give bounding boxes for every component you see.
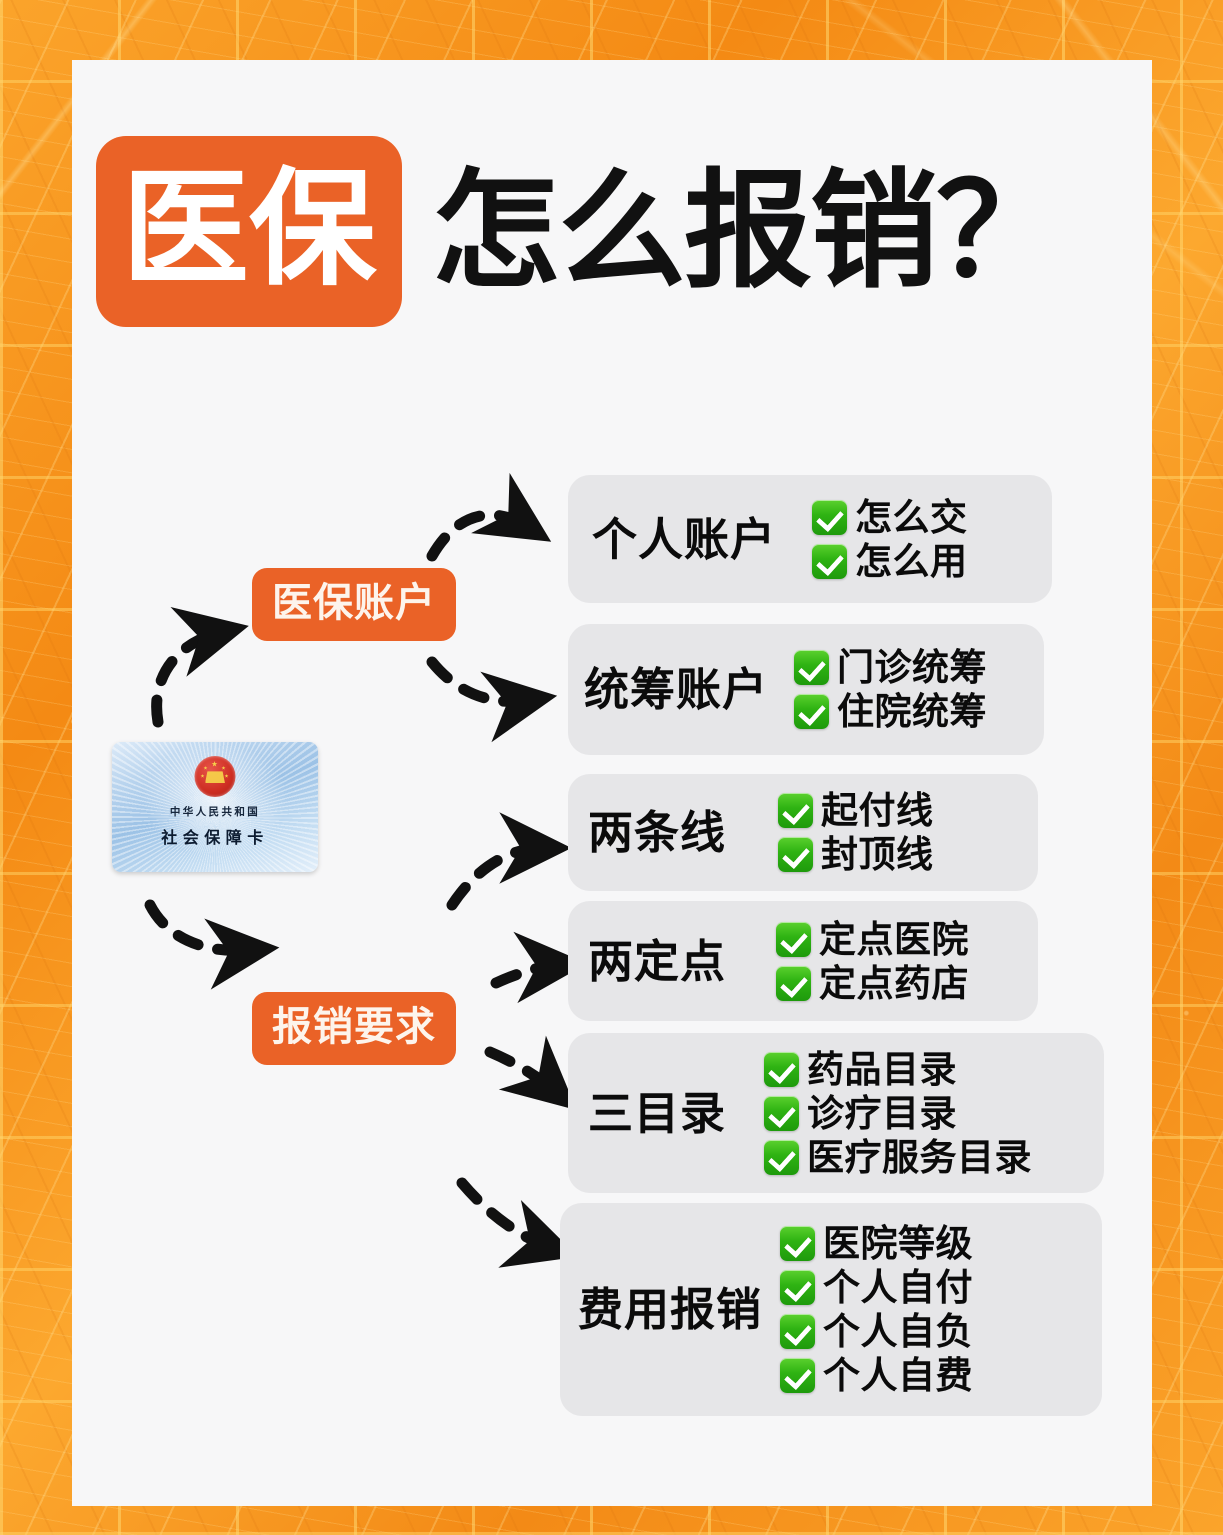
list-item[interactable]: 门诊统筹	[794, 649, 987, 686]
branch-label-account[interactable]: 医保账户	[252, 568, 456, 641]
content-box-expense-reimbursement[interactable]: 费用报销 医院等级 个人自付 个人自负 个人自费	[560, 1203, 1102, 1416]
check-icon	[764, 1096, 799, 1131]
card-name-line: 社会保障卡	[112, 824, 318, 848]
check-icon	[764, 1052, 799, 1087]
list-item-label: 医疗服务目录	[807, 1139, 1032, 1176]
content-box-two-designated[interactable]: 两定点 定点医院 定点药店	[568, 901, 1038, 1021]
box-title: 个人账户	[592, 517, 776, 562]
box-item-list: 门诊统筹 住院统筹	[794, 649, 987, 730]
box-title: 统筹账户	[584, 667, 768, 712]
list-item-label: 个人自付	[823, 1269, 973, 1306]
title-highlight-tag: 医保	[96, 136, 402, 327]
list-item-label: 住院统筹	[837, 693, 987, 730]
list-item-label: 药品目录	[807, 1051, 957, 1088]
list-item-label: 门诊统筹	[837, 649, 987, 686]
list-item-label: 定点药店	[819, 965, 969, 1002]
check-icon	[794, 694, 829, 729]
box-item-list: 怎么交 怎么用	[812, 499, 968, 580]
card-country-line: 中华人民共和国	[112, 804, 318, 819]
check-icon	[780, 1270, 815, 1305]
list-item[interactable]: 个人自负	[780, 1313, 973, 1350]
title-rest-text: 怎么报销？	[432, 168, 1062, 296]
box-item-list: 起付线 封顶线	[778, 792, 934, 873]
box-title: 三目录	[588, 1091, 726, 1136]
list-item-label: 定点医院	[819, 921, 969, 958]
box-item-list: 医院等级 个人自付 个人自负 个人自费	[780, 1225, 973, 1394]
list-item-label: 起付线	[821, 792, 934, 829]
box-title: 两条线	[588, 810, 726, 855]
check-icon	[778, 837, 813, 872]
list-item-label: 医院等级	[823, 1225, 973, 1262]
content-box-pooled-account[interactable]: 统筹账户 门诊统筹 住院统筹	[568, 624, 1044, 755]
list-item[interactable]: 住院统筹	[794, 693, 987, 730]
list-item-label: 个人自费	[823, 1357, 973, 1394]
check-icon	[780, 1314, 815, 1349]
list-item[interactable]: 定点医院	[776, 921, 969, 958]
check-icon	[776, 922, 811, 957]
list-item[interactable]: 起付线	[778, 792, 934, 829]
content-box-three-catalogs[interactable]: 三目录 药品目录 诊疗目录 医疗服务目录	[568, 1033, 1104, 1193]
box-title: 两定点	[588, 939, 726, 984]
social-security-card-image: 中华人民共和国 社会保障卡	[112, 742, 318, 872]
list-item[interactable]: 个人自付	[780, 1269, 973, 1306]
list-item[interactable]: 个人自费	[780, 1357, 973, 1394]
list-item[interactable]: 怎么交	[812, 499, 968, 536]
check-icon	[780, 1226, 815, 1261]
list-item-label: 怎么用	[855, 543, 968, 580]
list-item-label: 怎么交	[855, 499, 968, 536]
check-icon	[812, 544, 847, 579]
content-box-personal-account[interactable]: 个人账户 怎么交 怎么用	[568, 475, 1052, 603]
check-icon	[794, 650, 829, 685]
list-item-label: 封顶线	[821, 836, 934, 873]
branch-label-require[interactable]: 报销要求	[252, 992, 456, 1065]
box-item-list: 药品目录 诊疗目录 医疗服务目录	[764, 1051, 1032, 1176]
list-item-label: 诊疗目录	[807, 1095, 957, 1132]
list-item[interactable]: 医疗服务目录	[764, 1139, 1032, 1176]
list-item[interactable]: 封顶线	[778, 836, 934, 873]
content-box-two-lines[interactable]: 两条线 起付线 封顶线	[568, 774, 1038, 891]
list-item[interactable]: 怎么用	[812, 543, 968, 580]
page-title: 医保 怎么报销？	[96, 136, 1062, 327]
check-icon	[780, 1358, 815, 1393]
list-item-label: 个人自负	[823, 1313, 973, 1350]
list-item[interactable]: 诊疗目录	[764, 1095, 1032, 1132]
check-icon	[778, 793, 813, 828]
check-icon	[776, 966, 811, 1001]
check-icon	[764, 1140, 799, 1175]
check-icon	[812, 500, 847, 535]
national-emblem-icon	[195, 756, 236, 797]
box-item-list: 定点医院 定点药店	[776, 921, 969, 1002]
list-item[interactable]: 医院等级	[780, 1225, 973, 1262]
box-title: 费用报销	[578, 1287, 762, 1332]
infographic-poster: 医保 怎么报销？ 中华人民共和国 社会保障卡	[0, 0, 1223, 1535]
list-item[interactable]: 定点药店	[776, 965, 969, 1002]
list-item[interactable]: 药品目录	[764, 1051, 1032, 1088]
